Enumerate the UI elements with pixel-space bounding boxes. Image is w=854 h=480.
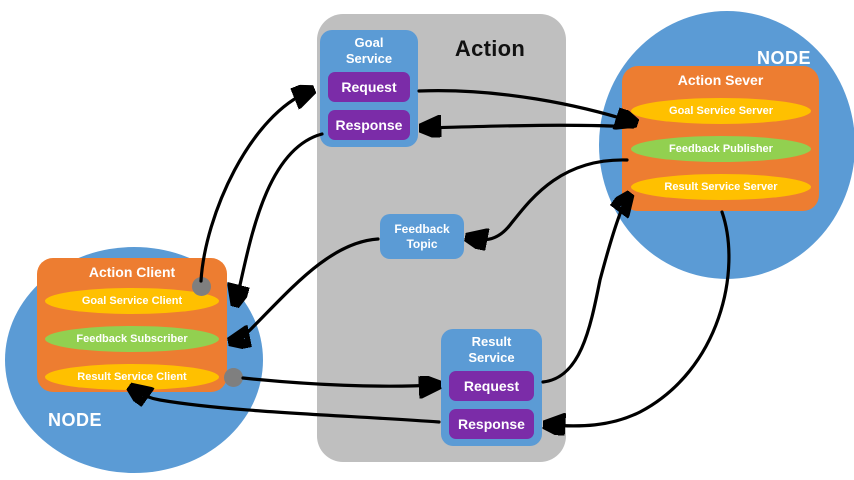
connector-dot-goal-service-client: [192, 277, 211, 296]
arrow-response-to-goal-client: [236, 134, 322, 302]
node-label-left: NODE: [48, 410, 102, 431]
pill-goal-service-server[interactable]: Goal Service Server: [631, 98, 811, 124]
result-service-response[interactable]: Response: [449, 409, 534, 439]
result-service-box: Result Service Request Response: [441, 329, 542, 446]
arrow-goal-client-to-request: [201, 91, 310, 281]
diagram-canvas: Action NODE Action Client Goal Service C…: [0, 0, 854, 480]
goal-service-title: Goal Service: [320, 35, 418, 67]
goal-service-box: Goal Service Request Response: [320, 30, 418, 147]
goal-service-request[interactable]: Request: [328, 72, 410, 102]
action-panel-title: Action: [425, 36, 555, 62]
pill-feedback-subscriber[interactable]: Feedback Subscriber: [45, 326, 219, 352]
pill-result-service-server[interactable]: Result Service Server: [631, 174, 811, 200]
result-service-title-line1: Result: [472, 334, 512, 349]
pill-result-service-client[interactable]: Result Service Client: [45, 364, 219, 390]
pill-feedback-publisher[interactable]: Feedback Publisher: [631, 136, 811, 162]
result-service-title: Result Service: [441, 334, 542, 366]
goal-service-title-line2: Service: [346, 51, 392, 66]
action-server-box: Action Sever Goal Service Server Feedbac…: [622, 66, 819, 211]
connector-dot-result-service-client: [224, 368, 243, 387]
result-service-request[interactable]: Request: [449, 371, 534, 401]
feedback-topic-line1: Feedback: [394, 222, 449, 237]
feedback-topic-box[interactable]: Feedback Topic: [380, 214, 464, 259]
result-service-title-line2: Service: [468, 350, 514, 365]
action-server-title: Action Sever: [622, 72, 819, 88]
goal-service-title-line1: Goal: [355, 35, 384, 50]
feedback-topic-line2: Topic: [406, 237, 437, 252]
goal-service-response[interactable]: Response: [328, 110, 410, 140]
